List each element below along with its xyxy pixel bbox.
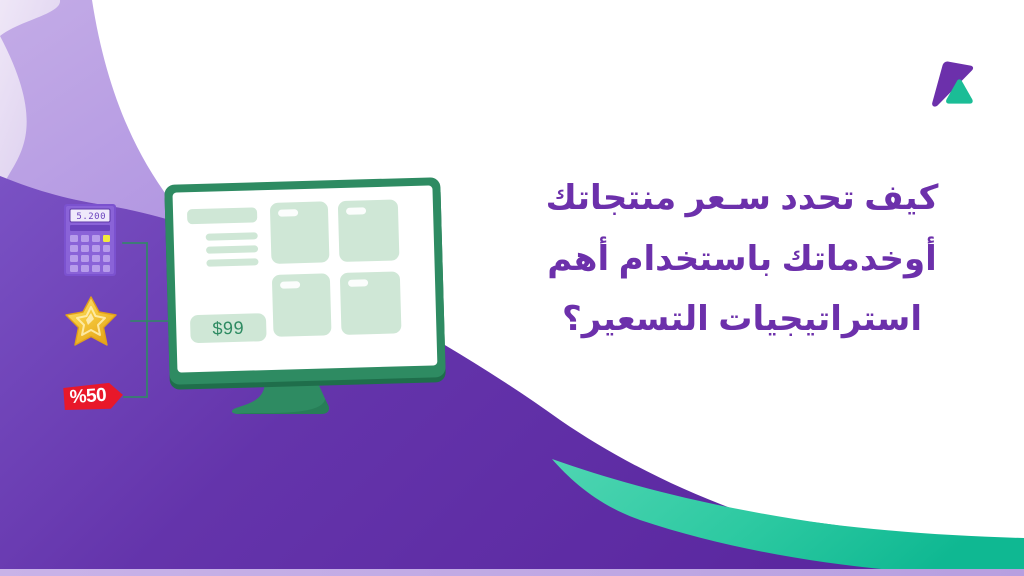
screen-card[interactable] <box>272 273 332 337</box>
discount-tag-icon[interactable]: %50 <box>62 382 124 412</box>
price-badge[interactable]: $99 <box>190 313 267 343</box>
screen-card-pill <box>280 281 300 289</box>
monitor-illustration: $99 <box>167 181 453 411</box>
monitor-frame: $99 <box>164 177 445 385</box>
screen-sidebar-line <box>206 232 258 240</box>
star-icon[interactable] <box>64 294 118 348</box>
screen-card[interactable] <box>338 199 400 262</box>
screen-sidebar-line <box>206 258 258 266</box>
monitor-screen[interactable]: $99 <box>172 185 437 372</box>
screen-sidebar-header <box>187 207 257 224</box>
calculator-display-value: 5.200 <box>76 212 106 222</box>
star-icon-svg <box>64 294 118 348</box>
screen-card-pill <box>346 207 366 215</box>
discount-tag-label: %50 <box>61 380 115 414</box>
calculator-solar-strip <box>70 225 110 231</box>
screen-card[interactable] <box>270 201 330 264</box>
calculator-icon[interactable]: 5.200 <box>64 204 116 276</box>
brand-logo-svg <box>914 52 986 114</box>
banner-canvas: كيف تحدد سـعر منتجاتك أوخدماتك باستخدام … <box>0 0 1024 576</box>
screen-card[interactable] <box>340 271 402 335</box>
screen-sidebar-line <box>206 245 258 253</box>
screen-card-pill <box>278 209 298 217</box>
calculator-key-highlight <box>103 235 110 242</box>
brand-logo[interactable] <box>914 52 986 114</box>
calculator-icon-svg: 5.200 <box>64 204 116 276</box>
page-title: كيف تحدد سـعر منتجاتك أوخدماتك باستخدام … <box>492 168 992 350</box>
screen-card-pill <box>348 279 368 287</box>
